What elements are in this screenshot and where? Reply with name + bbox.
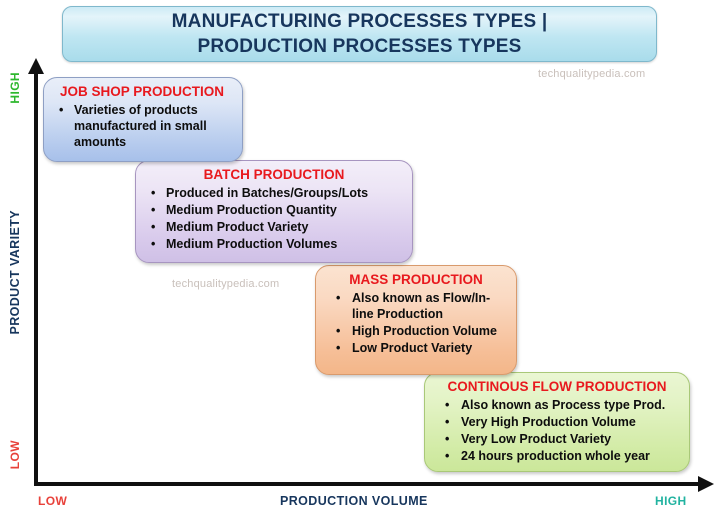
bullet-icon: •	[336, 323, 340, 339]
process-bullet-item: •Low Product Variety	[324, 340, 508, 356]
x-axis-arrow-icon	[698, 476, 714, 492]
process-bullet-text: Very High Production Volume	[461, 415, 636, 429]
process-bullet-item: •Also known as Process type Prod.	[433, 397, 681, 413]
bullet-icon: •	[336, 290, 340, 306]
process-bullet-text: High Production Volume	[352, 324, 497, 338]
process-bullet-item: •Medium Production Volumes	[144, 236, 404, 252]
process-box-heading: CONTINOUS FLOW PRODUCTION	[433, 378, 681, 396]
bullet-icon: •	[151, 219, 155, 235]
bullet-icon: •	[59, 102, 63, 118]
process-bullet-text: Very Low Product Variety	[461, 432, 611, 446]
y-axis-low-label: LOW	[8, 440, 22, 469]
watermark-top: techqualitypedia.com	[538, 68, 645, 80]
process-bullet-text: Varieties of products manufactured in sm…	[74, 103, 207, 149]
x-axis-low-label: LOW	[38, 494, 67, 508]
process-bullet-text: Medium Product Variety	[166, 220, 308, 234]
page-title-line-2: PRODUCTION PROCESSES TYPES	[197, 34, 521, 59]
process-bullet-text: Low Product Variety	[352, 341, 472, 355]
process-bullet-item: •Also known as Flow/In-line Production	[324, 290, 508, 322]
process-bullet-item: •High Production Volume	[324, 323, 508, 339]
process-bullet-item: •Varieties of products manufactured in s…	[52, 102, 234, 150]
y-axis-arrow-icon	[28, 58, 44, 74]
process-box-job-shop[interactable]: JOB SHOP PRODUCTION •Varieties of produc…	[43, 77, 243, 162]
process-box-bullet-list: •Also known as Process type Prod.•Very H…	[433, 397, 681, 464]
x-axis-high-label: HIGH	[655, 494, 687, 508]
watermark-middle: techqualitypedia.com	[172, 278, 279, 290]
process-box-bullet-list: •Produced in Batches/Groups/Lots•Medium …	[144, 185, 404, 252]
process-bullet-text: Also known as Flow/In-line Production	[352, 291, 490, 321]
diagram-title-banner: MANUFACTURING PROCESSES TYPES | PRODUCTI…	[62, 6, 657, 62]
bullet-icon: •	[445, 431, 449, 447]
y-axis-title: PRODUCT VARIETY	[8, 210, 22, 335]
process-box-mass[interactable]: MASS PRODUCTION •Also known as Flow/In-l…	[315, 265, 517, 375]
bullet-icon: •	[151, 236, 155, 252]
process-bullet-item: •Very High Production Volume	[433, 414, 681, 430]
process-box-heading: JOB SHOP PRODUCTION	[52, 83, 234, 101]
process-bullet-text: Medium Production Volumes	[166, 237, 337, 251]
process-box-bullet-list: •Also known as Flow/In-line Production•H…	[324, 290, 508, 356]
process-box-bullet-list: •Varieties of products manufactured in s…	[52, 102, 234, 150]
process-bullet-item: •24 hours production whole year	[433, 448, 681, 464]
process-bullet-text: Also known as Process type Prod.	[461, 398, 665, 412]
bullet-icon: •	[445, 414, 449, 430]
process-box-continuous-flow[interactable]: CONTINOUS FLOW PRODUCTION •Also known as…	[424, 372, 690, 472]
process-bullet-item: •Produced in Batches/Groups/Lots	[144, 185, 404, 201]
process-bullet-item: •Medium Production Quantity	[144, 202, 404, 218]
x-axis-title: PRODUCTION VOLUME	[280, 494, 428, 508]
bullet-icon: •	[151, 185, 155, 201]
x-axis-line	[34, 482, 702, 486]
process-box-batch[interactable]: BATCH PRODUCTION •Produced in Batches/Gr…	[135, 160, 413, 263]
process-bullet-item: •Medium Product Variety	[144, 219, 404, 235]
bullet-icon: •	[445, 448, 449, 464]
process-bullet-text: Produced in Batches/Groups/Lots	[166, 186, 368, 200]
page-title-line-1: MANUFACTURING PROCESSES TYPES |	[172, 9, 548, 34]
bullet-icon: •	[151, 202, 155, 218]
process-box-heading: MASS PRODUCTION	[324, 271, 508, 289]
bullet-icon: •	[445, 397, 449, 413]
process-bullet-text: 24 hours production whole year	[461, 449, 650, 463]
y-axis-high-label: HIGH	[8, 72, 22, 104]
process-box-heading: BATCH PRODUCTION	[144, 166, 404, 184]
y-axis-line	[34, 72, 38, 486]
bullet-icon: •	[336, 340, 340, 356]
process-bullet-text: Medium Production Quantity	[166, 203, 337, 217]
process-bullet-item: •Very Low Product Variety	[433, 431, 681, 447]
diagram-canvas: MANUFACTURING PROCESSES TYPES | PRODUCTI…	[0, 0, 720, 529]
